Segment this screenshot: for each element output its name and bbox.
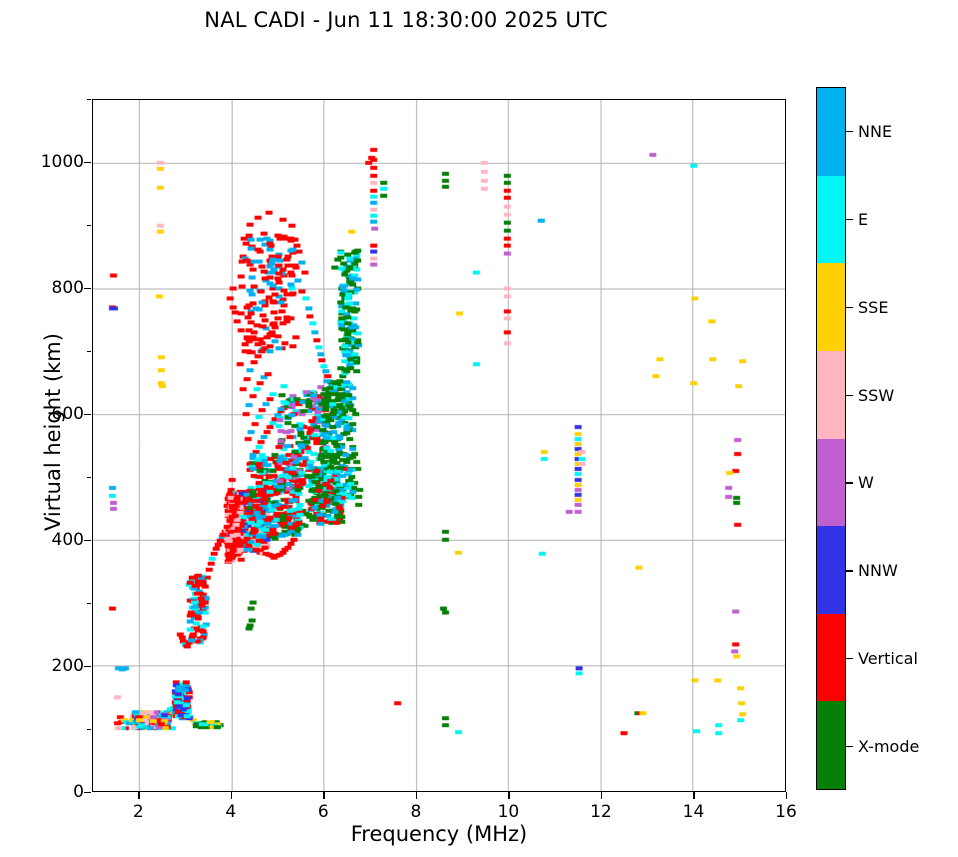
y-tick-label: 0: [38, 782, 84, 802]
x-tick-label: 2: [118, 802, 158, 822]
colorbar-label-e: E: [858, 210, 868, 229]
x-tick-mark: [693, 792, 694, 799]
colorbar-tick-labels: NNEESSESSWWNNWVerticalX-mode: [846, 87, 956, 790]
x-tick-mark: [508, 792, 509, 799]
x-tick-label: 6: [303, 802, 343, 822]
page-title: NAL CADI - Jun 11 18:30:00 2025 UTC: [0, 8, 812, 32]
y-tick-minor: [87, 603, 91, 604]
y-axis-label: Virtual height (km): [41, 82, 65, 782]
y-tick-mark: [84, 540, 91, 541]
y-tick-mark: [84, 414, 91, 415]
colorbar-segment-nnw: [817, 526, 845, 614]
x-tick-mark: [601, 792, 602, 799]
colorbar-segment-e: [817, 176, 845, 264]
colorbar: [816, 87, 846, 790]
colorbar-segment-sse: [817, 263, 845, 351]
colorbar-tick: [846, 219, 853, 220]
colorbar-tick: [846, 307, 853, 308]
plot-area: [92, 99, 786, 792]
colorbar-label-x-mode: X-mode: [858, 737, 919, 756]
x-tick-label: 12: [581, 802, 621, 822]
colorbar-segment-vertical: [817, 614, 845, 702]
x-tick-label: 10: [488, 802, 528, 822]
x-axis-label: Frequency (MHz): [92, 822, 786, 846]
colorbar-tick: [846, 395, 853, 396]
colorbar-label-nnw: NNW: [858, 561, 898, 580]
x-tick-label: 4: [211, 802, 251, 822]
colorbar-segment-ssw: [817, 351, 845, 439]
x-tick-mark: [786, 792, 787, 799]
scatter-canvas: [93, 100, 785, 791]
x-tick-mark: [416, 792, 417, 799]
y-tick-mark: [84, 792, 91, 793]
x-tick-label: 8: [396, 802, 436, 822]
x-tick-mark: [138, 792, 139, 799]
x-tick-label: 16: [766, 802, 806, 822]
y-tick-minor: [87, 225, 91, 226]
ionogram-figure: NAL CADI - Jun 11 18:30:00 2025 UTC 0200…: [0, 0, 958, 857]
colorbar-tick: [846, 570, 853, 571]
colorbar-label-ssw: SSW: [858, 386, 894, 405]
colorbar-label-vertical: Vertical: [858, 649, 918, 668]
y-tick-minor: [87, 351, 91, 352]
x-tick-mark: [231, 792, 232, 799]
x-tick-mark: [323, 792, 324, 799]
colorbar-tick: [846, 482, 853, 483]
colorbar-segment-nne: [817, 88, 845, 176]
x-tick-label: 14: [673, 802, 713, 822]
colorbar-label-sse: SSE: [858, 298, 888, 317]
y-tick-mark: [84, 162, 91, 163]
colorbar-segment-w: [817, 439, 845, 527]
y-tick-minor: [87, 99, 91, 100]
y-tick-mark: [84, 288, 91, 289]
y-tick-minor: [87, 729, 91, 730]
colorbar-tick: [846, 746, 853, 747]
colorbar-segment-x-mode: [817, 701, 845, 789]
colorbar-label-nne: NNE: [858, 122, 892, 141]
y-tick-mark: [84, 666, 91, 667]
colorbar-tick: [846, 131, 853, 132]
colorbar-tick: [846, 658, 853, 659]
colorbar-label-w: W: [858, 473, 874, 492]
y-tick-minor: [87, 477, 91, 478]
